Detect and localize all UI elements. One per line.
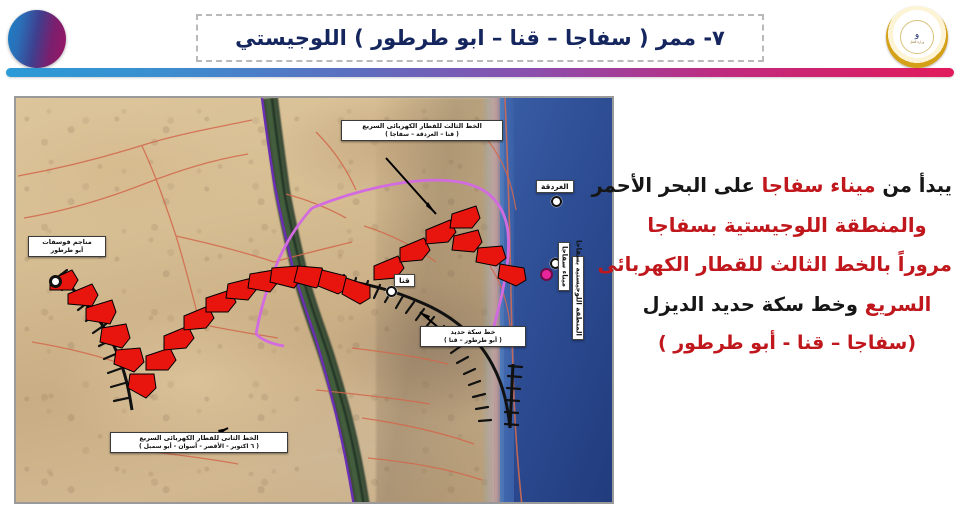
callout-hsr-line-2-title: الخط الثانى للقطار الكهربائى السريع xyxy=(116,435,282,443)
slide-header: ٧- ممر ( سفاجا – قنا – ابو طرطور ) اللوج… xyxy=(0,0,960,86)
gradient-sphere-logo xyxy=(8,10,66,68)
callout-railway-abu-tartour-qena[interactable]: خط سكة حديد ( أبو طرطور – قنا ) xyxy=(420,326,526,347)
desc-4-seg-2: وخط سكة حديد الديزل xyxy=(643,293,865,316)
city-dot-hurghada[interactable] xyxy=(551,196,562,207)
mine-dot-abu-tartour[interactable] xyxy=(49,275,62,288)
callout-railway-subtitle: ( أبو طرطور – قنا ) xyxy=(426,337,520,344)
map-panel[interactable]: الخط الثالث للقطار الكهربائى السريع ( قن… xyxy=(14,96,614,504)
header-accent-bar xyxy=(6,68,954,77)
callout-hsr-line-2[interactable]: الخط الثانى للقطار الكهربائى السريع ( ٦ … xyxy=(110,432,288,453)
callout-hsr-line-3-title: الخط الثالث للقطار الكهربائى السريع xyxy=(347,123,497,131)
desc-3-seg-1: مروراً بالخط الثالث للقطار الكهربائى xyxy=(598,253,952,276)
label-safaga-logistics-zone: المنطقة اللوجيستية بسفاجا xyxy=(572,256,584,340)
city-dot-qena[interactable] xyxy=(386,286,397,297)
page-title: ٧- ممر ( سفاجا – قنا – ابو طرطور ) اللوج… xyxy=(235,26,725,50)
city-label-hurghada: الغردقة xyxy=(536,180,574,193)
coastal-plain xyxy=(486,98,500,504)
map-canvas: الخط الثالث للقطار الكهربائى السريع ( قن… xyxy=(16,98,612,502)
page-title-box: ٧- ممر ( سفاجا – قنا – ابو طرطور ) اللوج… xyxy=(196,14,764,62)
description-column: يبدأ من ميناء سفاجا على البحر الأحمر وال… xyxy=(622,176,952,426)
description-line-3: مروراً بالخط الثالث للقطار الكهربائى xyxy=(622,255,952,275)
description-line-2: والمنطقة اللوجيستية بسفاجا xyxy=(622,216,952,236)
callout-mines-subtitle: أبو طرطور xyxy=(34,247,100,254)
seal-inner: و وزارة النقل xyxy=(900,20,934,54)
desc-2-seg-1: والمنطقة اللوجيستية بسفاجا xyxy=(647,214,926,237)
description-line-1: يبدأ من ميناء سفاجا على البحر الأحمر xyxy=(622,176,952,196)
callout-hsr-line-2-subtitle: ( ٦ اكتوبر - الأقصر - أسوان - أبو سمبل ) xyxy=(116,443,282,450)
red-sea-water xyxy=(494,98,612,504)
slide-root: ٧- ممر ( سفاجا – قنا – ابو طرطور ) اللوج… xyxy=(0,0,960,516)
desc-1-seg-1: يبدأ من xyxy=(876,174,952,197)
callout-abu-tartour-mines[interactable]: مناجم فوسفات أبو طرطور xyxy=(28,236,106,257)
callout-hsr-line-3-subtitle: ( قنا – الغردقة – سفاجا ) xyxy=(347,131,497,138)
ministry-gold-seal-logo: و وزارة النقل xyxy=(886,6,948,68)
city-label-qena: قنا xyxy=(394,274,415,287)
desc-1-seg-2: ميناء سفاجا xyxy=(762,174,876,197)
label-safaga-port: ميناء سفاجا xyxy=(558,242,570,291)
description-line-4: السريع وخط سكة حديد الديزل xyxy=(622,295,952,315)
desc-1-seg-3: على البحر الأحمر xyxy=(592,174,762,197)
logistics-zone-marker-safaga[interactable] xyxy=(540,268,553,281)
description-line-5: (سفاجا – قنا - أبو طرطور ) xyxy=(622,334,952,353)
desc-5-seg-1: (سفاجا – قنا - أبو طرطور ) xyxy=(658,332,916,354)
seal-subtitle: وزارة النقل xyxy=(910,41,924,45)
callout-railway-title: خط سكة حديد xyxy=(426,329,520,337)
callout-mines-title: مناجم فوسفات xyxy=(34,239,100,247)
desc-4-seg-1: السريع xyxy=(865,293,932,316)
callout-hsr-line-3[interactable]: الخط الثالث للقطار الكهربائى السريع ( قن… xyxy=(341,120,503,141)
